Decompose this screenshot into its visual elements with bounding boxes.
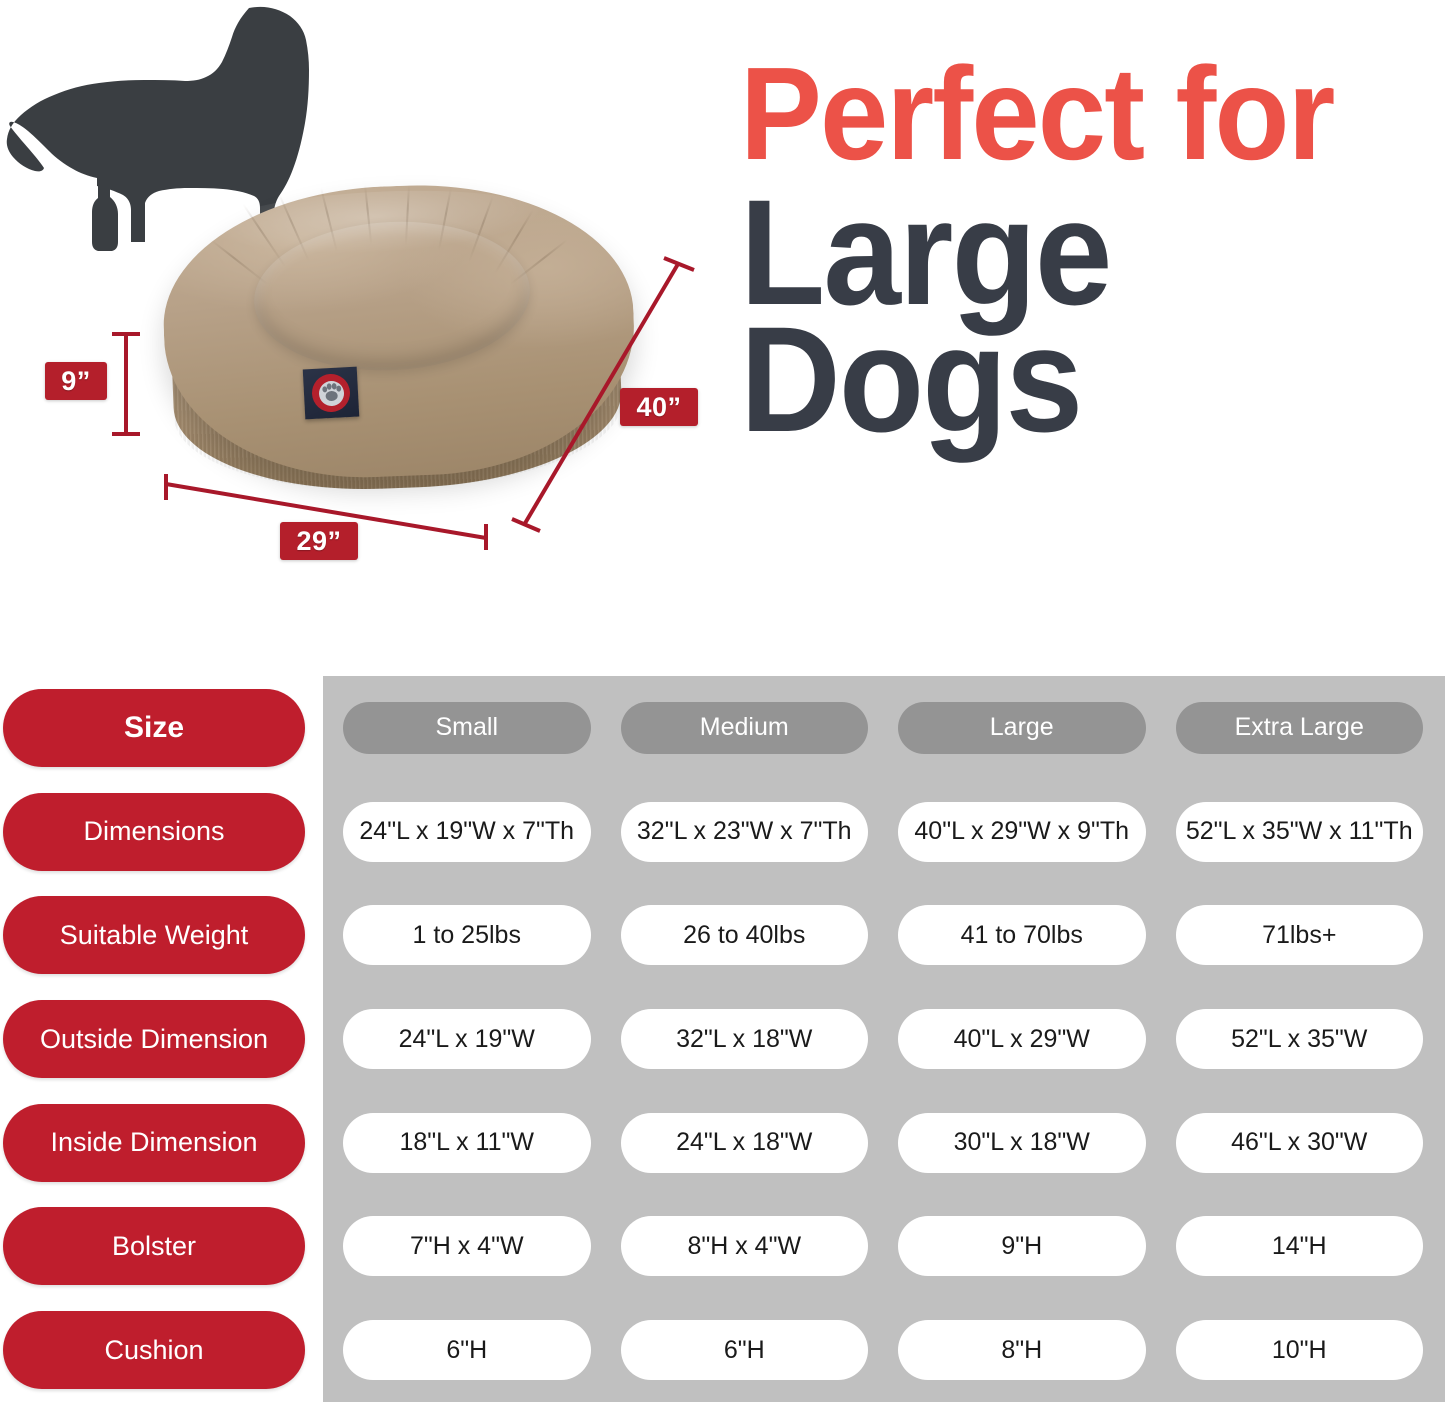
cell-value: 32"L x 23"W x 7"Th bbox=[621, 802, 869, 862]
cell-value: 52"L x 35"W x 11"Th bbox=[1176, 802, 1424, 862]
row-values-cell: 18"L x 11"W24"L x 18"W30"L x 18"W46"L x … bbox=[323, 1113, 1445, 1173]
callout-width-29in: 29” bbox=[280, 522, 358, 560]
row-label-cell: Dimensions bbox=[0, 793, 323, 871]
cell-value: 40"L x 29"W bbox=[898, 1009, 1146, 1069]
callout-length-40in: 40” bbox=[620, 388, 698, 426]
table-row: Inside Dimension18"L x 11"W24"L x 18"W30… bbox=[0, 1091, 1445, 1195]
column-header-extra-large: Extra Large bbox=[1176, 702, 1424, 754]
table-row: Dimensions24"L x 19"W x 7"Th32"L x 23"W … bbox=[0, 780, 1445, 884]
cell-value: 52"L x 35"W bbox=[1176, 1009, 1424, 1069]
row-label-size: Size bbox=[3, 689, 305, 767]
row-label-cell: Size bbox=[0, 689, 323, 767]
cell-value: 1 to 25lbs bbox=[343, 905, 591, 965]
cell-value: 8"H x 4"W bbox=[621, 1216, 869, 1276]
cell-value: 71lbs+ bbox=[1176, 905, 1424, 965]
row-label-cushion: Cushion bbox=[3, 1311, 305, 1389]
table-row: Outside Dimension24"L x 19"W32"L x 18"W4… bbox=[0, 987, 1445, 1091]
cell-value: 41 to 70lbs bbox=[898, 905, 1146, 965]
cell-value: 32"L x 18"W bbox=[621, 1009, 869, 1069]
cell-value: 24"L x 19"W bbox=[343, 1009, 591, 1069]
row-label-cell: Cushion bbox=[0, 1311, 323, 1389]
cell-value: 8"H bbox=[898, 1320, 1146, 1380]
cell-value: 24"L x 18"W bbox=[621, 1113, 869, 1173]
headline-line-dogs: Dogs bbox=[740, 309, 1391, 450]
cell-value: 14"H bbox=[1176, 1216, 1424, 1276]
cell-value: 26 to 40lbs bbox=[621, 905, 869, 965]
headline-line-perfect-for: Perfect for bbox=[740, 52, 1391, 176]
row-label-cell: Suitable Weight bbox=[0, 896, 323, 974]
row-values-cell: 24"L x 19"W x 7"Th32"L x 23"W x 7"Th40"L… bbox=[323, 802, 1445, 862]
column-header-medium: Medium bbox=[621, 702, 869, 754]
paw-print-icon bbox=[318, 380, 344, 406]
row-values-cell: SmallMediumLargeExtra Large bbox=[323, 702, 1445, 754]
brand-logo-ring bbox=[311, 373, 351, 413]
cell-value: 10"H bbox=[1176, 1320, 1424, 1380]
hero-section: 9” 40” 29” Perfect for Large Dogs bbox=[0, 0, 1445, 660]
bolster-dog-bed-photo bbox=[150, 170, 660, 530]
cell-value: 6"H bbox=[343, 1320, 591, 1380]
majestic-pet-brand-tag bbox=[303, 367, 360, 420]
size-spec-table: SizeSmallMediumLargeExtra LargeDimension… bbox=[0, 676, 1445, 1406]
row-label-cell: Bolster bbox=[0, 1207, 323, 1285]
hero-headline: Perfect for Large Dogs bbox=[740, 52, 1440, 450]
row-label-cell: Inside Dimension bbox=[0, 1104, 323, 1182]
table-rows-container: SizeSmallMediumLargeExtra LargeDimension… bbox=[0, 676, 1445, 1402]
row-values-cell: 1 to 25lbs26 to 40lbs41 to 70lbs71lbs+ bbox=[323, 905, 1445, 965]
table-row: Suitable Weight1 to 25lbs26 to 40lbs41 t… bbox=[0, 883, 1445, 987]
row-label-bolster: Bolster bbox=[3, 1207, 305, 1285]
cell-value: 9"H bbox=[898, 1216, 1146, 1276]
row-label-cell: Outside Dimension bbox=[0, 1000, 323, 1078]
cell-value: 18"L x 11"W bbox=[343, 1113, 591, 1173]
column-header-small: Small bbox=[343, 702, 591, 754]
table-header-row: SizeSmallMediumLargeExtra Large bbox=[0, 676, 1445, 780]
infographic-page: 9” 40” 29” Perfect for Large Dogs SizeSm… bbox=[0, 0, 1445, 1408]
cell-value: 6"H bbox=[621, 1320, 869, 1380]
cell-value: 7"H x 4"W bbox=[343, 1216, 591, 1276]
row-values-cell: 24"L x 19"W32"L x 18"W40"L x 29"W52"L x … bbox=[323, 1009, 1445, 1069]
row-label-suitable-weight: Suitable Weight bbox=[3, 896, 305, 974]
table-row: Cushion6"H6"H8"H10"H bbox=[0, 1298, 1445, 1402]
row-values-cell: 7"H x 4"W8"H x 4"W9"H14"H bbox=[323, 1216, 1445, 1276]
row-label-dimensions: Dimensions bbox=[3, 793, 305, 871]
row-values-cell: 6"H6"H8"H10"H bbox=[323, 1320, 1445, 1380]
cell-value: 30"L x 18"W bbox=[898, 1113, 1146, 1173]
row-label-inside-dimension: Inside Dimension bbox=[3, 1104, 305, 1182]
cell-value: 46"L x 30"W bbox=[1176, 1113, 1424, 1173]
callout-height-9in: 9” bbox=[45, 362, 107, 400]
row-label-outside-dimension: Outside Dimension bbox=[3, 1000, 305, 1078]
cell-value: 40"L x 29"W x 9"Th bbox=[898, 802, 1146, 862]
column-header-large: Large bbox=[898, 702, 1146, 754]
table-row: Bolster7"H x 4"W8"H x 4"W9"H14"H bbox=[0, 1195, 1445, 1299]
cell-value: 24"L x 19"W x 7"Th bbox=[343, 802, 591, 862]
